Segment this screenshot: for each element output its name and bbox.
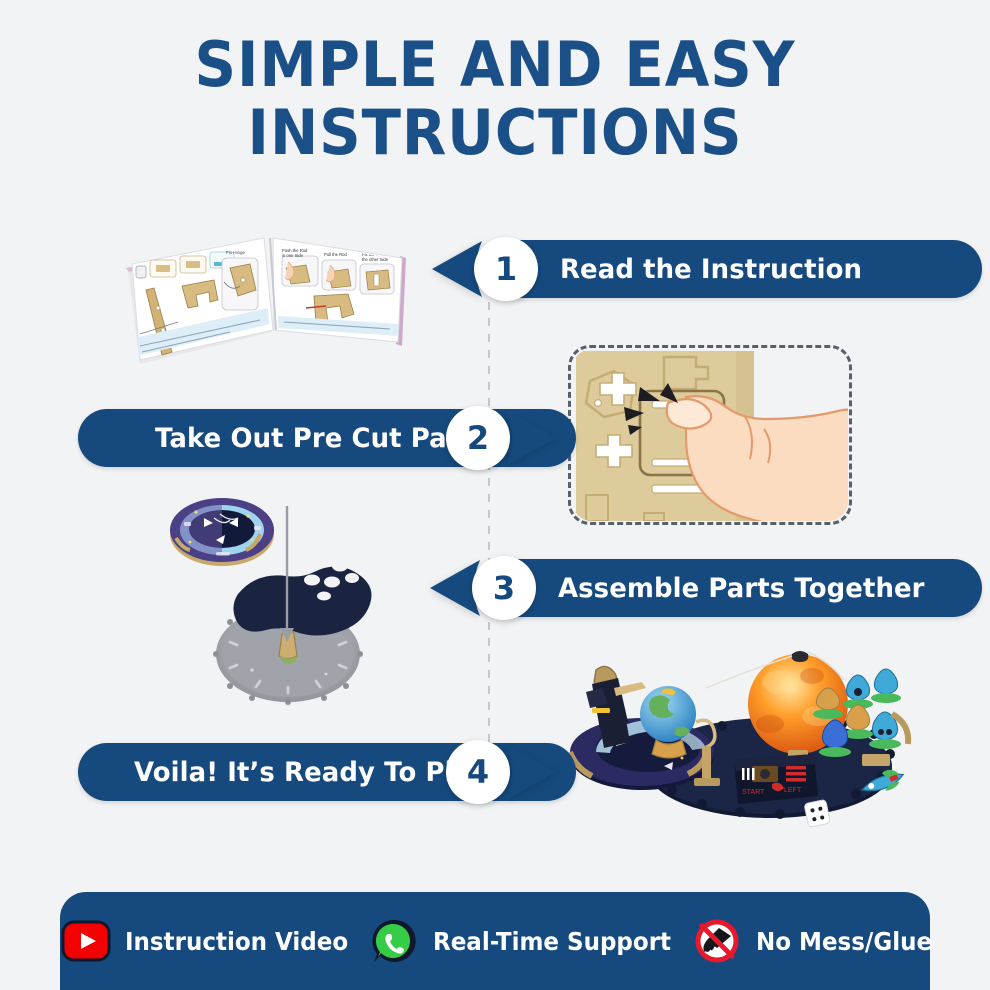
footer-bar: Instruction Video Real-Time Support No M… (60, 892, 930, 990)
step-1-banner[interactable]: Read the Instruction 1 (430, 240, 910, 298)
svg-text:LEFT: LEFT (784, 787, 802, 794)
step-3-number: 3 (472, 556, 536, 620)
whatsapp-icon (368, 918, 420, 964)
step-2-number: 2 (446, 406, 510, 470)
step-3-banner[interactable]: Assemble Parts Together 3 (428, 559, 910, 617)
no-glue-icon (691, 918, 743, 964)
step-1-number: 1 (474, 237, 538, 301)
step-1-illustration-booklet: Fix Hinge Push the Rod in (110, 212, 430, 372)
step-4-illustration-finished-model: START LEFT (556, 618, 948, 838)
step-4-banner[interactable]: Voila! It’s Ready To Play 4 (78, 743, 558, 801)
footer-label-real-time-support: Real-Time Support (433, 927, 671, 956)
footer-item-no-mess-glue[interactable]: No Mess/Glue (691, 918, 947, 964)
footer-item-instruction-video[interactable]: Instruction Video (60, 918, 368, 964)
footer-label-no-mess-glue: No Mess/Glue (756, 927, 932, 956)
title-line-1: Simple and Easy (195, 28, 796, 101)
step-2-label: Take Out Pre Cut Parts (155, 423, 488, 454)
svg-text:Pull the Rod: Pull the Rod (324, 252, 347, 257)
page-title: Simple and Easy Instructions (35, 34, 956, 164)
svg-text:the other Side: the other Side (362, 257, 389, 262)
step-1-bar: Read the Instruction (488, 240, 982, 298)
step-3-bar: Assemble Parts Together (486, 559, 982, 617)
step-2-illustration-punch-out (568, 345, 852, 525)
step-3-label: Assemble Parts Together (558, 573, 925, 604)
infographic-canvas: Simple and Easy Instructions (0, 0, 990, 990)
step-1-label: Read the Instruction (560, 254, 862, 285)
title-line-2: Instructions (35, 102, 956, 164)
step-3-illustration-parts (160, 482, 440, 712)
footer-item-real-time-support[interactable]: Real-Time Support (368, 918, 692, 964)
step-4-number: 4 (446, 740, 510, 804)
svg-text:START: START (742, 789, 765, 796)
step-4-label: Voila! It’s Ready To Play (134, 757, 487, 788)
svg-text:Fix Hinge: Fix Hinge (226, 250, 246, 255)
step-connector-line (488, 270, 490, 780)
youtube-play-icon (60, 918, 112, 964)
footer-label-instruction-video: Instruction Video (125, 927, 348, 956)
svg-text:in one Side: in one Side (282, 253, 304, 258)
step-2-banner[interactable]: Take Out Pre Cut Parts 2 (78, 409, 558, 467)
